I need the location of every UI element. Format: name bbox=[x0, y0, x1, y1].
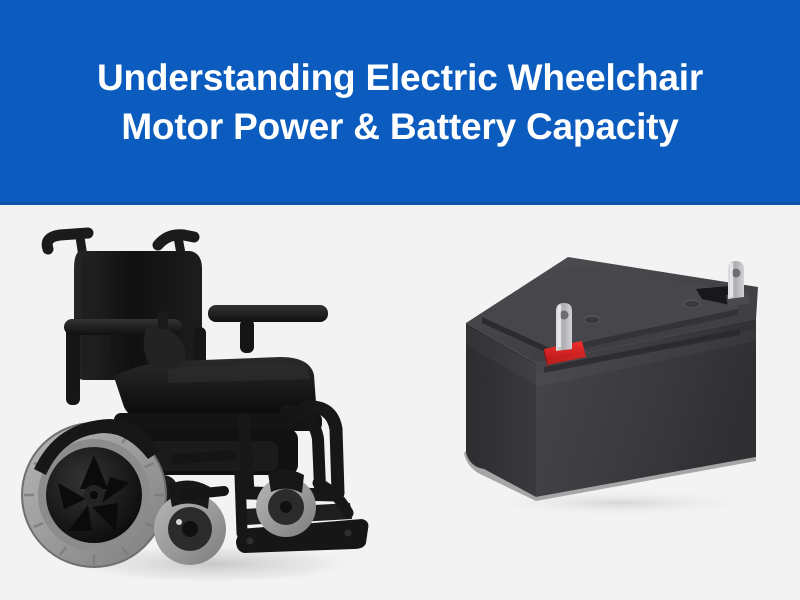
negative-tab-highlight bbox=[730, 263, 733, 297]
positive-tab-highlight bbox=[558, 305, 561, 347]
back-frame-post-left bbox=[66, 327, 80, 405]
electric-wheelchair-image bbox=[18, 207, 388, 592]
content-area bbox=[0, 205, 800, 600]
page-title-line-1: Understanding Electric Wheelchair bbox=[97, 54, 703, 103]
caster-wheel-front-right bbox=[256, 469, 316, 537]
header-banner: Understanding Electric Wheelchair Motor … bbox=[0, 0, 800, 205]
sla-battery-image bbox=[440, 245, 785, 535]
page-title: Understanding Electric Wheelchair Motor … bbox=[97, 50, 703, 152]
electric-wheelchair-graphic bbox=[18, 207, 388, 592]
page-root: Understanding Electric Wheelchair Motor … bbox=[0, 0, 800, 600]
negative-terminal bbox=[726, 261, 750, 307]
sla-battery-graphic bbox=[440, 245, 785, 535]
page-title-line-2: Motor Power & Battery Capacity bbox=[97, 103, 703, 152]
backrest-highlight bbox=[81, 257, 98, 375]
battery-shadow bbox=[475, 489, 765, 517]
armrest-right bbox=[208, 305, 328, 353]
